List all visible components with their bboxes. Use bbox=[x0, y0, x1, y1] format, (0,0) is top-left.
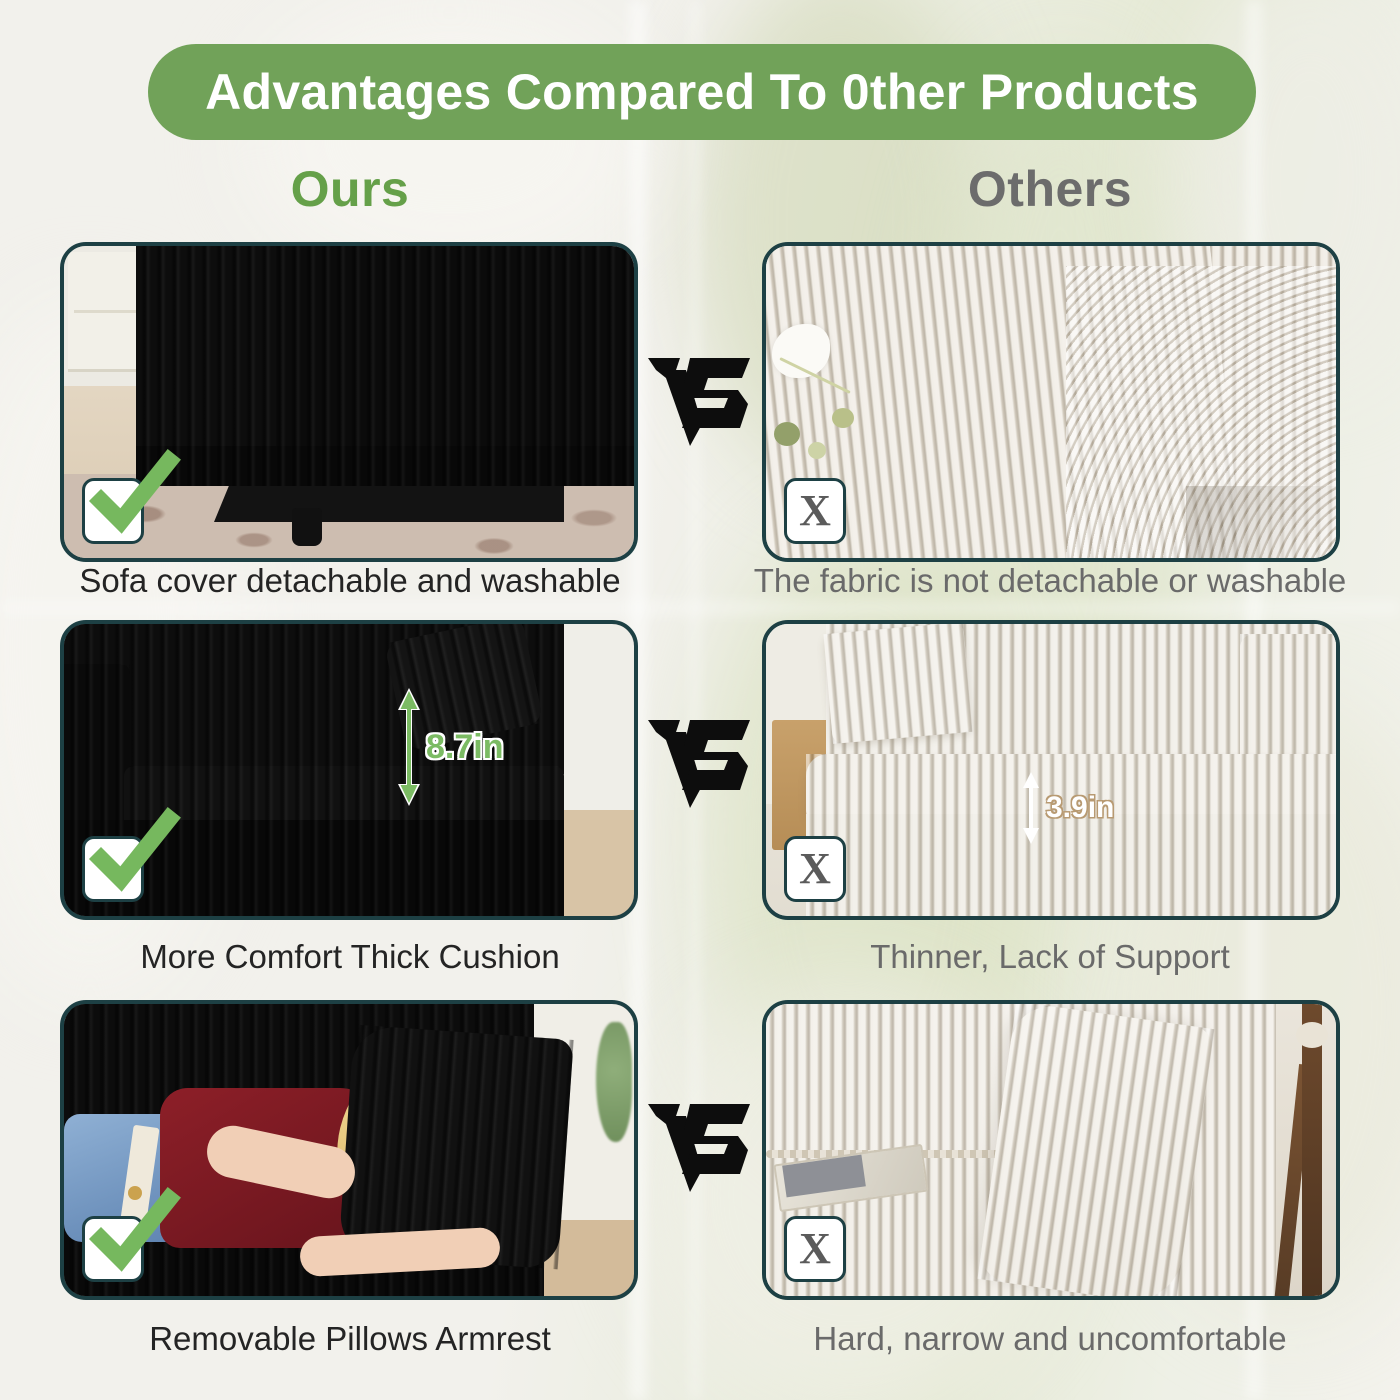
check-badge bbox=[82, 478, 144, 544]
check-icon bbox=[91, 1195, 177, 1275]
measurement-label: 3.9in bbox=[1046, 791, 1114, 825]
photo-cream-sofa-arm bbox=[766, 246, 1336, 558]
measurement-label: 8.7in bbox=[426, 728, 503, 767]
others-caption-2: Thinner, Lack of Support bbox=[700, 938, 1400, 976]
ours-caption-3: Removable Pillows Armrest bbox=[0, 1320, 700, 1358]
vs-icon bbox=[646, 352, 758, 448]
check-icon bbox=[91, 815, 177, 895]
others-photo-card-3: X bbox=[762, 1000, 1340, 1300]
ours-caption-1: Sofa cover detachable and washable bbox=[0, 562, 700, 600]
double-arrow-icon bbox=[1022, 772, 1040, 844]
x-badge: X bbox=[784, 1216, 846, 1282]
x-icon: X bbox=[799, 1227, 831, 1271]
header-banner: Advantages Compared To 0ther Products bbox=[148, 44, 1256, 140]
photo-beige-thin-cushion bbox=[766, 624, 1336, 916]
x-icon: X bbox=[799, 489, 831, 533]
column-heading-ours: Ours bbox=[0, 160, 700, 218]
others-caption-3: Hard, narrow and uncomfortable bbox=[700, 1320, 1400, 1358]
vs-separator-2 bbox=[646, 714, 758, 810]
others-caption-1: The fabric is not detachable or washable bbox=[700, 562, 1400, 600]
ours-photo-card-3 bbox=[60, 1000, 638, 1300]
x-badge: X bbox=[784, 478, 846, 544]
vs-icon bbox=[646, 1098, 758, 1194]
photo-beige-stiff-cushion bbox=[766, 1004, 1336, 1296]
double-arrow-icon bbox=[398, 688, 420, 806]
others-photo-card-2: X bbox=[762, 620, 1340, 920]
vs-icon bbox=[646, 714, 758, 810]
column-heading-others: Others bbox=[700, 160, 1400, 218]
others-photo-card-1: X bbox=[762, 242, 1340, 562]
measurement-ours-thickness: 8.7in bbox=[398, 688, 503, 806]
check-icon bbox=[91, 457, 177, 537]
vs-separator-1 bbox=[646, 352, 758, 448]
x-badge: X bbox=[784, 836, 846, 902]
comparison-infographic: Advantages Compared To 0ther Products Ou… bbox=[0, 0, 1400, 1400]
page-title: Advantages Compared To 0ther Products bbox=[205, 63, 1199, 121]
vs-separator-3 bbox=[646, 1098, 758, 1194]
ours-caption-2: More Comfort Thick Cushion bbox=[0, 938, 700, 976]
measurement-others-thickness: 3.9in bbox=[1022, 772, 1114, 844]
check-badge bbox=[82, 1216, 144, 1282]
ours-photo-card-1 bbox=[60, 242, 638, 562]
check-badge bbox=[82, 836, 144, 902]
x-icon: X bbox=[799, 847, 831, 891]
ours-photo-card-2 bbox=[60, 620, 638, 920]
